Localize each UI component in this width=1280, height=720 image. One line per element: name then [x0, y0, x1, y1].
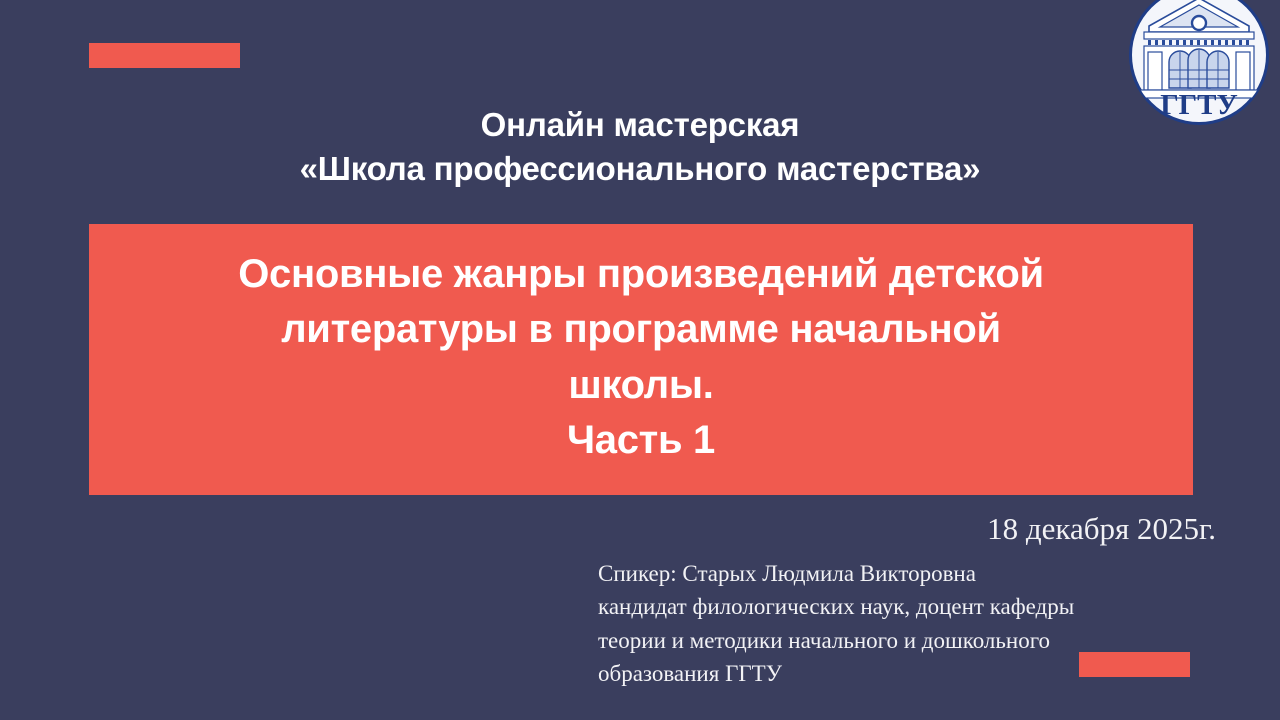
slide-title-line-2: литературы в программе начальной — [281, 302, 1001, 357]
speaker-credentials-line-3: образования ГГТУ — [598, 657, 1238, 690]
accent-bar-top-left — [89, 43, 240, 68]
slide-title-line-3: школы. — [568, 358, 713, 413]
slide-title-block: Основные жанры произведений детской лите… — [89, 224, 1193, 495]
event-header: Онлайн мастерская «Школа профессионально… — [0, 103, 1280, 190]
speaker-credentials-line-1: кандидат филологических наук, доцент каф… — [598, 590, 1238, 623]
slide-title-line-4: Часть 1 — [567, 413, 715, 468]
speaker-credentials-line-2: теории и методики начального и дошкольно… — [598, 624, 1238, 657]
slide-title-line-1: Основные жанры произведений детской — [238, 247, 1044, 302]
speaker-name-line: Спикер: Старых Людмила Викторовна — [598, 557, 1238, 590]
presentation-slide: ГГТУ Онлайн мастерская «Школа профессион… — [0, 0, 1280, 720]
event-header-line-1: Онлайн мастерская — [0, 103, 1280, 147]
event-date: 18 декабря 2025г. — [987, 512, 1216, 546]
speaker-info: Спикер: Старых Людмила Викторовна кандид… — [598, 557, 1238, 690]
event-header-line-2: «Школа профессионального мастерства» — [0, 147, 1280, 191]
